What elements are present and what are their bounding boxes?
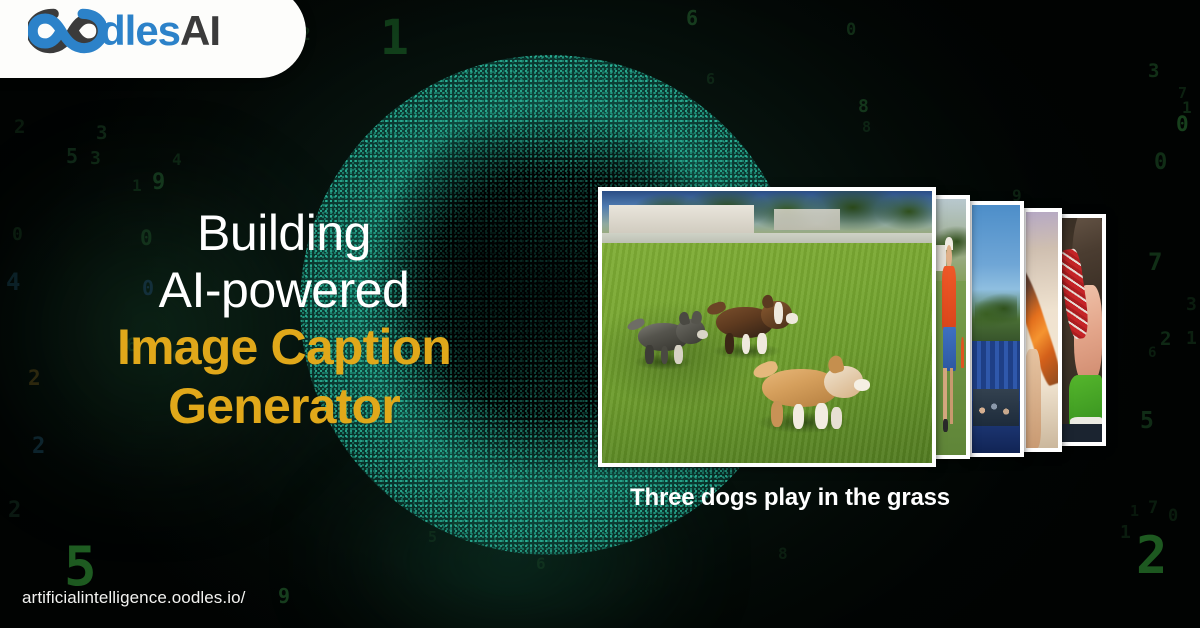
brand-logo-inner: dlesAI: [28, 0, 220, 62]
dog-grey: [632, 311, 708, 368]
site-url[interactable]: artificialintelligence.oodles.io/: [22, 588, 245, 608]
brand-name-part2: AI: [180, 7, 220, 54]
thumbnail-photo-sky-image: [972, 205, 1020, 453]
dog-brown: [711, 294, 797, 357]
thumbnail-photo-sky[interactable]: [968, 201, 1024, 457]
thumbnail-photo-runner-image: [932, 199, 966, 455]
brand-wordmark: dlesAI: [100, 7, 220, 55]
brand-logo-pill[interactable]: dlesAI: [0, 0, 306, 78]
headline-line-4: Generator: [28, 377, 540, 436]
thumbnail-photo-closeup-image: [1026, 212, 1058, 448]
headline-line-1: Building: [28, 205, 540, 262]
headline-line-3: Image Caption: [28, 318, 540, 377]
thumbnail-photo-closeup[interactable]: [1022, 208, 1062, 452]
thumbnail-photo-kid-image: [1062, 218, 1102, 442]
headline-line-2: AI-powered: [28, 262, 540, 319]
banner-root: 1603710353491800200407132666252207152196…: [0, 0, 1200, 628]
brand-name-part1: dles: [100, 7, 180, 54]
headline-block: Building AI-powered Image Caption Genera…: [28, 205, 540, 436]
infinity-logo-icon: [28, 5, 106, 57]
main-photo-dogs[interactable]: [598, 187, 936, 467]
dog-tan: [757, 354, 869, 430]
thumbnail-photo-kid[interactable]: [1058, 214, 1106, 446]
main-photo-dogs-image: [602, 191, 932, 463]
image-caption-text: Three dogs play in the grass: [580, 484, 1000, 512]
